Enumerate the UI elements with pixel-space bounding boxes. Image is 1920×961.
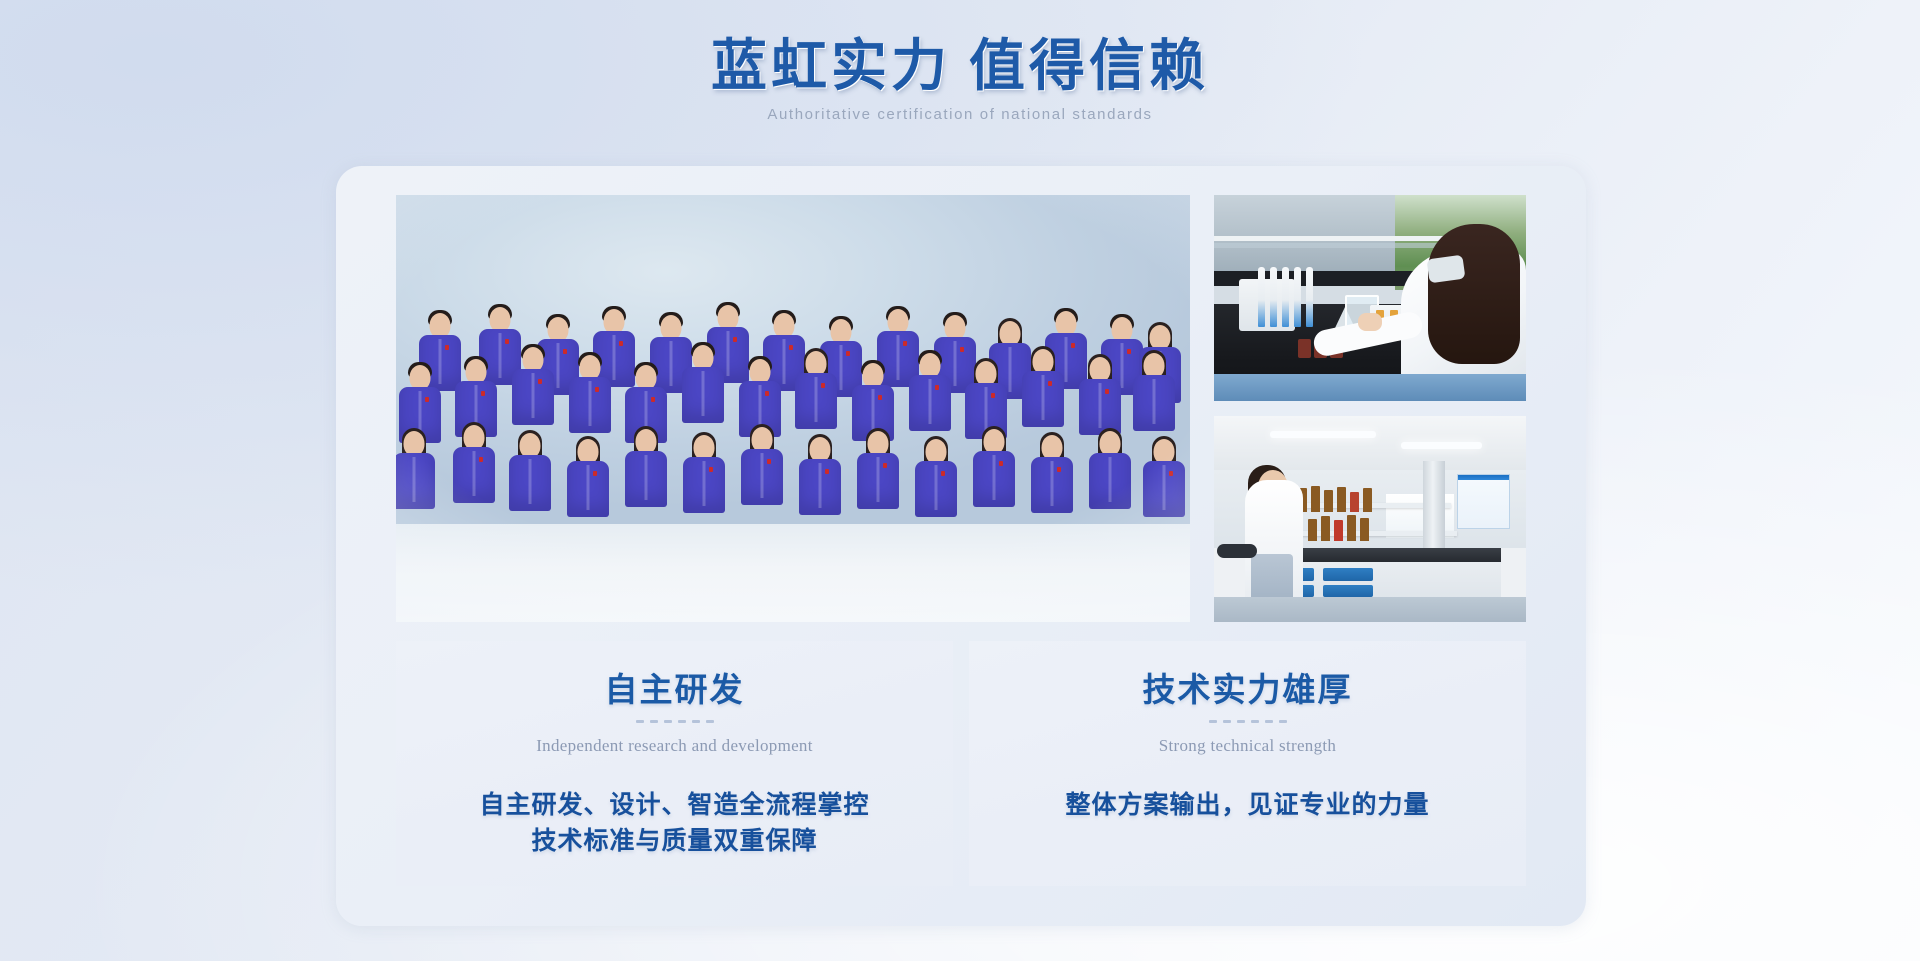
reagent-row-lower [1308,515,1369,541]
feature-card-description-line: 技术标准与质量双重保障 [396,824,953,860]
page-subtitle: Authoritative certification of national … [0,106,1920,123]
pipette-stand-icon [1258,267,1316,327]
lab-bench-front-panel [1214,374,1526,401]
lab-stool-icon [1217,544,1257,558]
divider-dots [1209,720,1287,723]
reagent-row-upper [1298,486,1372,512]
lab-bench-photo[interactable] [1214,195,1526,401]
feature-card-title: 技术实力雄厚 [969,671,1526,711]
face-mask-icon [1426,254,1465,283]
team-photo-vignette [396,195,1190,622]
lab-room-photo[interactable] [1214,416,1526,622]
feature-card-rnd[interactable]: 自主研发 Independent research and developmen… [396,641,953,886]
technician-hand [1358,313,1382,331]
feature-card-subtitle: Independent research and development [396,736,953,756]
feature-card-title: 自主研发 [396,671,953,711]
feature-card-description-line: 自主研发、设计、智造全流程掌控 [396,788,953,824]
page-title: 蓝虹实力 值得信赖 [0,34,1920,100]
cabinet-drawer [1323,585,1373,597]
lab-room-floor [1214,597,1526,622]
page-background: 蓝虹实力 值得信赖 Authoritative certification of… [0,0,1920,961]
page-header: 蓝虹实力 值得信赖 Authoritative certification of… [0,34,1920,123]
feature-card-subtitle: Strong technical strength [969,736,1526,756]
media-gallery [396,195,1526,622]
technician-hair [1428,224,1520,364]
feature-card-list: 自主研发 Independent research and developmen… [396,641,1526,886]
safety-poster [1457,474,1510,530]
cabinet-drawer [1323,568,1373,580]
feature-card-description: 自主研发、设计、智造全流程掌控 技术标准与质量双重保障 [396,788,953,860]
team-group-photo[interactable] [396,195,1190,622]
divider-dots [636,720,714,723]
feature-card-description: 整体方案输出，见证专业的力量 [969,788,1526,824]
lab-bench-shelf-rail [1214,236,1457,241]
feature-card-technical-strength[interactable]: 技术实力雄厚 Strong technical strength 整体方案输出，… [969,641,1526,886]
content-panel: 自主研发 Independent research and developmen… [336,166,1586,926]
feature-card-description-line: 整体方案输出，见证专业的力量 [969,788,1526,824]
lab-room-ceiling [1214,416,1526,470]
